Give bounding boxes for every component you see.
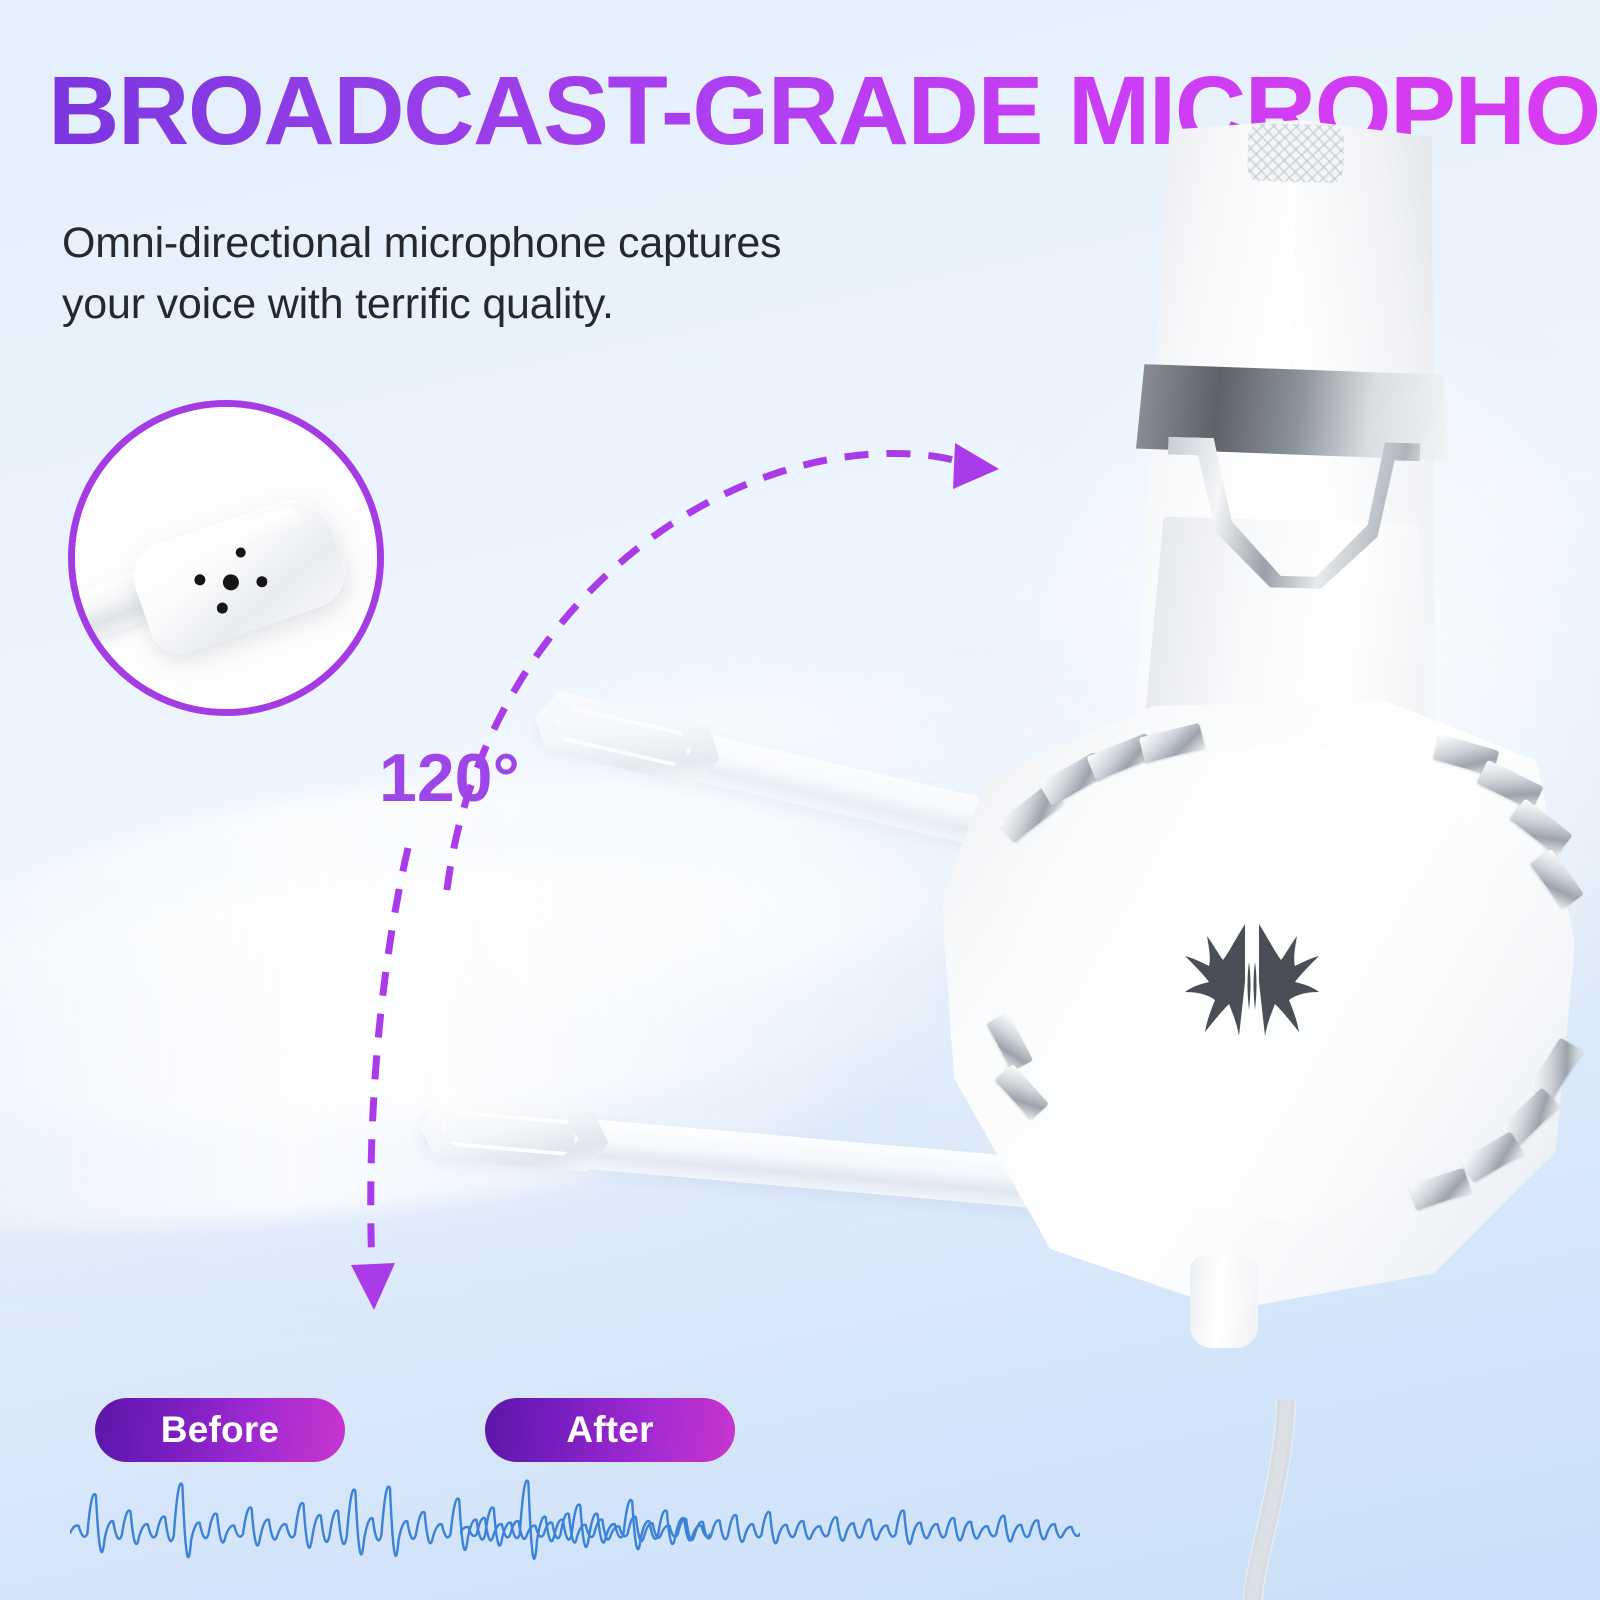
mic-closeup-inset [68, 400, 384, 716]
mic-hole-left [193, 573, 207, 587]
boom-arm-shaft [951, 567, 1293, 1061]
rotation-angle-label: 120° [379, 739, 520, 817]
background-swoosh-secondary [0, 825, 998, 1164]
earcup-vent-slat [1433, 734, 1500, 776]
waveform-path [460, 1511, 1080, 1544]
inset-backdrop [75, 407, 377, 709]
boom-arm-ghost-middle [533, 696, 1294, 916]
rotation-arrow-lower-icon [351, 1263, 395, 1310]
subtitle-line-2: your voice with terrific quality. [62, 274, 902, 335]
background-glow [940, 250, 1600, 1150]
mic-hole-top [234, 546, 247, 559]
earcup-vent-slat [995, 1064, 1049, 1120]
headset-earcup [935, 700, 1575, 1310]
rotation-arc-lower [371, 848, 408, 1270]
earcup-vent-slat [1039, 752, 1107, 807]
waveform-after [460, 1478, 1080, 1588]
earcup-vent-slat [1086, 733, 1155, 781]
mic-capsule-head [124, 489, 355, 662]
boom-arm-ghost-bottom [421, 1105, 1302, 1232]
badge-after-label: After [566, 1409, 653, 1451]
boom-arm-ghost-top [951, 567, 1293, 1061]
subtitle-text: Omni-directional microphone captures you… [62, 213, 902, 335]
earcup-inner-plate [987, 740, 1517, 1240]
earcup-vent-slat [1509, 798, 1572, 855]
headband-face-left [1131, 116, 1298, 780]
headband-lower-section [1139, 516, 1436, 786]
boom-arm-tip [528, 687, 727, 790]
mic-hole-bottom [215, 601, 229, 615]
earcup-vent-slat [1460, 1131, 1523, 1183]
boom-arm-tip [417, 1095, 612, 1173]
subtitle-line-1: Omni-directional microphone captures [62, 213, 902, 274]
badge-before-label: Before [161, 1409, 279, 1451]
earcup-vent-slat [1408, 1168, 1471, 1211]
earcup-vent-slat [1500, 1088, 1560, 1147]
earcup-shell [935, 700, 1575, 1310]
earcup-vent-slat [1530, 849, 1584, 910]
earcup-vent-slat [1139, 723, 1205, 763]
boom-arm-shaft [421, 1105, 1302, 1232]
headset-headband [1131, 116, 1453, 784]
mic-hole-right [255, 575, 269, 589]
tribal-wing-logo [1157, 900, 1347, 1050]
boom-arm-tip [941, 876, 1096, 1069]
mic-hole-center [221, 572, 241, 592]
headband-chrome-v-accent [1164, 437, 1420, 592]
product-feature-banner: BROADCAST-GRADE MICROPHONE Omni-directio… [0, 0, 1600, 1600]
background-swoosh-soft [0, 980, 920, 1310]
badge-after: After [485, 1398, 735, 1462]
boom-arm-shaft [533, 696, 1294, 916]
headband-face-right [1281, 120, 1453, 784]
rotation-arrow-upper-icon [953, 443, 999, 489]
rotation-arc-upper [447, 453, 960, 890]
page-title: BROADCAST-GRADE MICROPHONE [48, 62, 1598, 159]
earcup-vent-slat [1476, 760, 1543, 811]
earcup-vent-slat [1530, 1038, 1583, 1101]
headset-cable [1240, 1400, 1330, 1600]
badge-before: Before [95, 1398, 345, 1462]
earcup-vent-slat [987, 1013, 1034, 1072]
earcup-vent-slat [998, 783, 1064, 843]
headband-gray-band [1136, 364, 1450, 464]
cable-strain-relief [1190, 1256, 1258, 1348]
